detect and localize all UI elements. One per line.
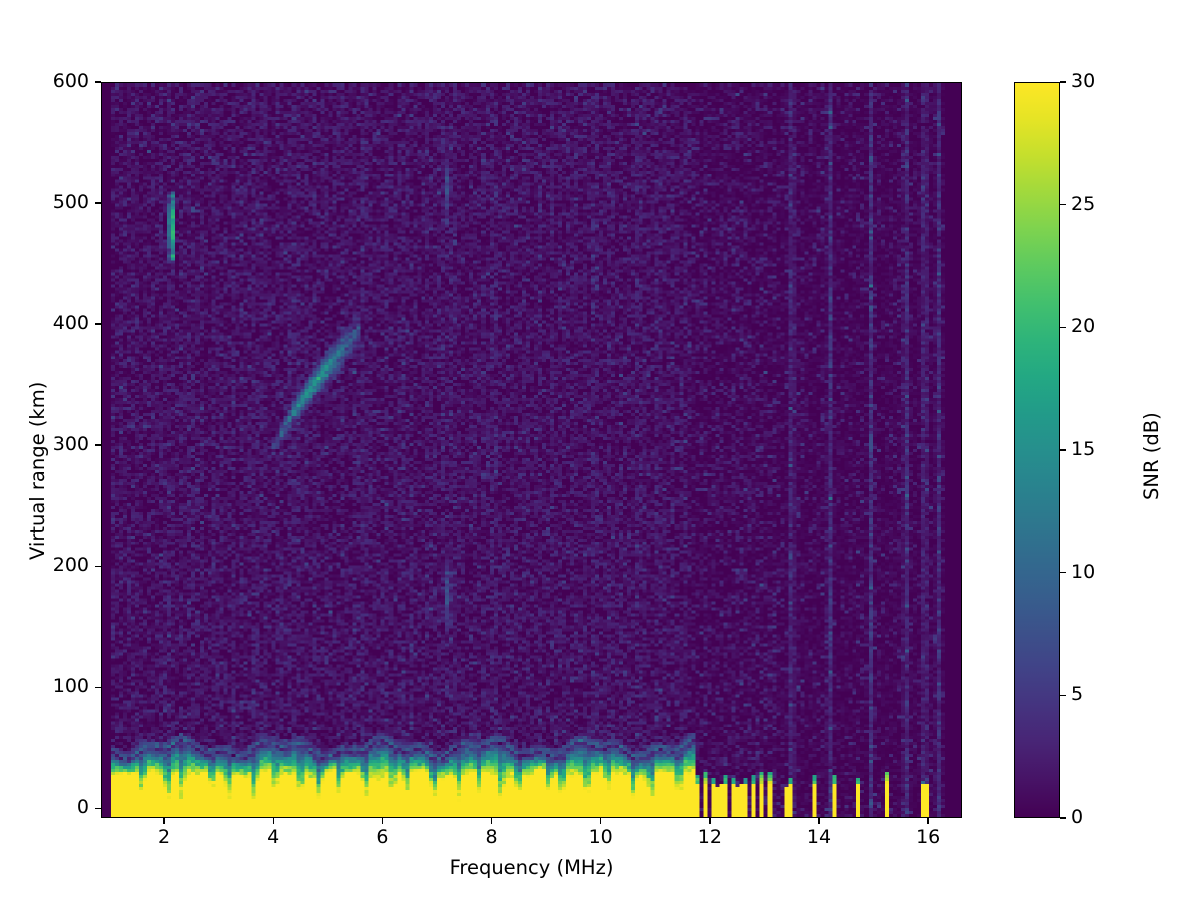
colorbar-label: SNR (dB) [1140, 412, 1163, 500]
y-tick-mark [95, 81, 101, 82]
y-tick-label: 0 [5, 798, 89, 817]
colorbar-tick-mark [1060, 449, 1066, 450]
colorbar-tick-mark [1060, 204, 1066, 205]
y-tick-label: 500 [5, 193, 89, 212]
colorbar-tick-label: 30 [1071, 72, 1095, 91]
colorbar-tick-label: 5 [1071, 685, 1083, 704]
colorbar-tick-mark [1060, 695, 1066, 696]
x-axis-label: Frequency (MHz) [101, 856, 962, 879]
x-tick-mark [927, 818, 928, 824]
x-tick-label: 4 [233, 828, 313, 847]
y-tick-label: 600 [5, 72, 89, 91]
x-tick-label: 10 [561, 828, 641, 847]
colorbar-tick-mark [1060, 817, 1066, 818]
x-tick-label: 8 [452, 828, 532, 847]
x-tick-mark [163, 818, 164, 824]
x-tick-mark [273, 818, 274, 824]
colorbar-tick-label: 15 [1071, 440, 1095, 459]
x-tick-mark [600, 818, 601, 824]
colorbar-gradient [1015, 83, 1059, 817]
x-tick-mark [818, 818, 819, 824]
colorbar-tick-mark [1060, 572, 1066, 573]
x-tick-mark [709, 818, 710, 824]
colorbar-tick-label: 25 [1071, 195, 1095, 214]
y-tick-mark [95, 687, 101, 688]
ionogram-figure: IRF Kiruna Ionosonde KI167 2025-10-19 12… [0, 0, 1200, 900]
y-tick-mark [95, 444, 101, 445]
y-tick-mark [95, 202, 101, 203]
y-tick-mark [95, 808, 101, 809]
x-tick-label: 14 [779, 828, 859, 847]
ionogram-plot-area[interactable] [101, 82, 962, 818]
colorbar[interactable] [1014, 82, 1060, 818]
x-tick-label: 16 [888, 828, 968, 847]
x-tick-mark [382, 818, 383, 824]
y-tick-label: 400 [5, 314, 89, 333]
colorbar-tick-mark [1060, 81, 1066, 82]
y-axis-label: Virtual range (km) [26, 382, 49, 560]
x-tick-mark [491, 818, 492, 824]
y-tick-label: 100 [5, 677, 89, 696]
colorbar-tick-label: 10 [1071, 563, 1095, 582]
ionogram-heatmap [102, 83, 961, 817]
y-tick-mark [95, 566, 101, 567]
colorbar-tick-label: 0 [1071, 808, 1083, 827]
colorbar-tick-mark [1060, 327, 1066, 328]
x-tick-label: 2 [124, 828, 204, 847]
y-tick-mark [95, 323, 101, 324]
x-tick-label: 12 [670, 828, 750, 847]
colorbar-tick-label: 20 [1071, 317, 1095, 336]
x-tick-label: 6 [342, 828, 422, 847]
